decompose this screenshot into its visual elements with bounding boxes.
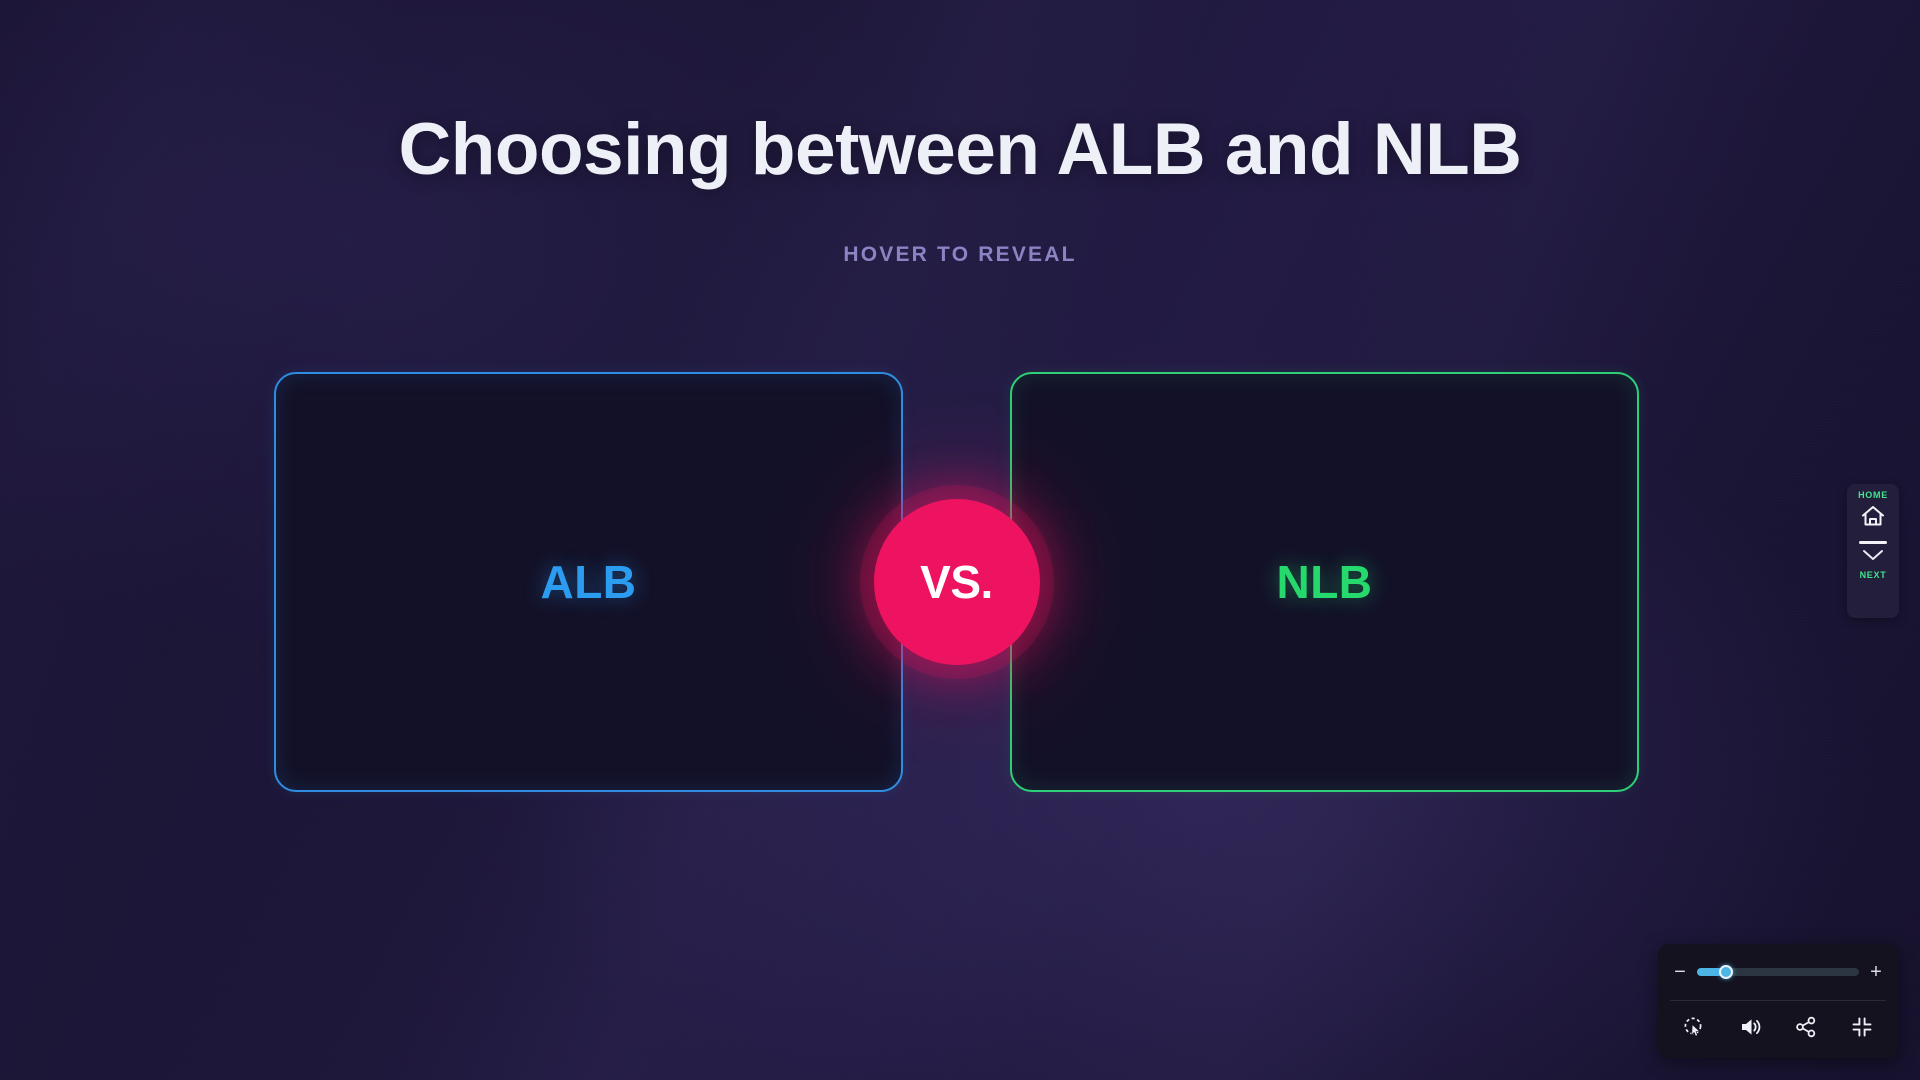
- versus-badge: VS.: [874, 499, 1040, 665]
- pointer-select-icon: [1683, 1016, 1705, 1043]
- zoom-slider[interactable]: [1697, 968, 1859, 976]
- home-icon: [1860, 504, 1886, 533]
- share-button[interactable]: [1789, 1013, 1823, 1047]
- nav-next-label: NEXT: [1860, 571, 1887, 580]
- zoom-in-button[interactable]: +: [1868, 962, 1884, 982]
- comparison-card-alb-label: ALB: [540, 555, 636, 609]
- comparison-card-nlb[interactable]: NLB: [1010, 372, 1639, 792]
- nav-home-label: HOME: [1858, 491, 1888, 500]
- volume-button[interactable]: [1733, 1013, 1767, 1047]
- presentation-stage: Choosing between ALB and NLB HOVER TO RE…: [0, 0, 1920, 1080]
- exit-fullscreen-button[interactable]: [1845, 1013, 1879, 1047]
- chevron-down-icon: [1860, 548, 1886, 568]
- bottom-toolbar: − +: [1658, 944, 1898, 1058]
- nav-next-button[interactable]: NEXT: [1860, 548, 1887, 580]
- share-icon: [1795, 1016, 1817, 1043]
- tool-button-row: [1658, 1001, 1898, 1058]
- volume-icon: [1739, 1016, 1762, 1043]
- comparison-card-alb[interactable]: ALB: [274, 372, 903, 792]
- page-subtitle: HOVER TO REVEAL: [0, 243, 1920, 267]
- comparison-area: ALB NLB VS.: [274, 372, 1639, 792]
- page-title: Choosing between ALB and NLB: [0, 112, 1920, 189]
- zoom-slider-handle[interactable]: [1719, 965, 1733, 979]
- nav-home-button[interactable]: HOME: [1858, 491, 1888, 533]
- exit-fullscreen-icon: [1851, 1016, 1873, 1043]
- zoom-control-row: − +: [1658, 944, 1898, 1000]
- divider-bar: [1859, 541, 1887, 544]
- zoom-out-button[interactable]: −: [1672, 962, 1688, 982]
- comparison-card-nlb-label: NLB: [1276, 555, 1372, 609]
- pointer-select-button[interactable]: [1677, 1013, 1711, 1047]
- versus-badge-label: VS.: [920, 559, 993, 605]
- side-navigation-widget: HOME NEXT: [1847, 484, 1899, 618]
